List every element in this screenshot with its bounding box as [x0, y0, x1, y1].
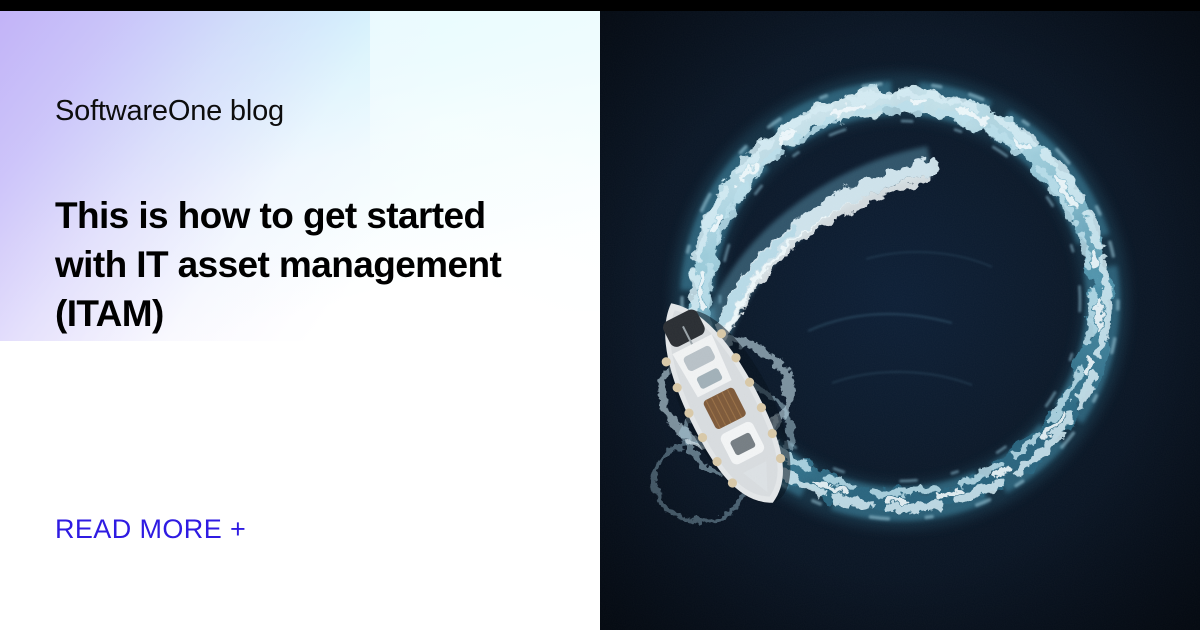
top-black-bar	[0, 0, 1200, 11]
hero-image	[600, 11, 1200, 630]
text-panel: SoftwareOne blog This is how to get star…	[0, 11, 600, 630]
blog-eyebrow: SoftwareOne blog	[55, 94, 284, 129]
yacht-circular-wake-illustration	[600, 11, 1200, 630]
read-more-link[interactable]: READ MORE +	[55, 514, 246, 545]
share-card: SoftwareOne blog This is how to get star…	[0, 0, 1200, 630]
panel-content: SoftwareOne blog This is how to get star…	[0, 11, 600, 630]
page-title: This is how to get started with IT asset…	[55, 191, 565, 339]
